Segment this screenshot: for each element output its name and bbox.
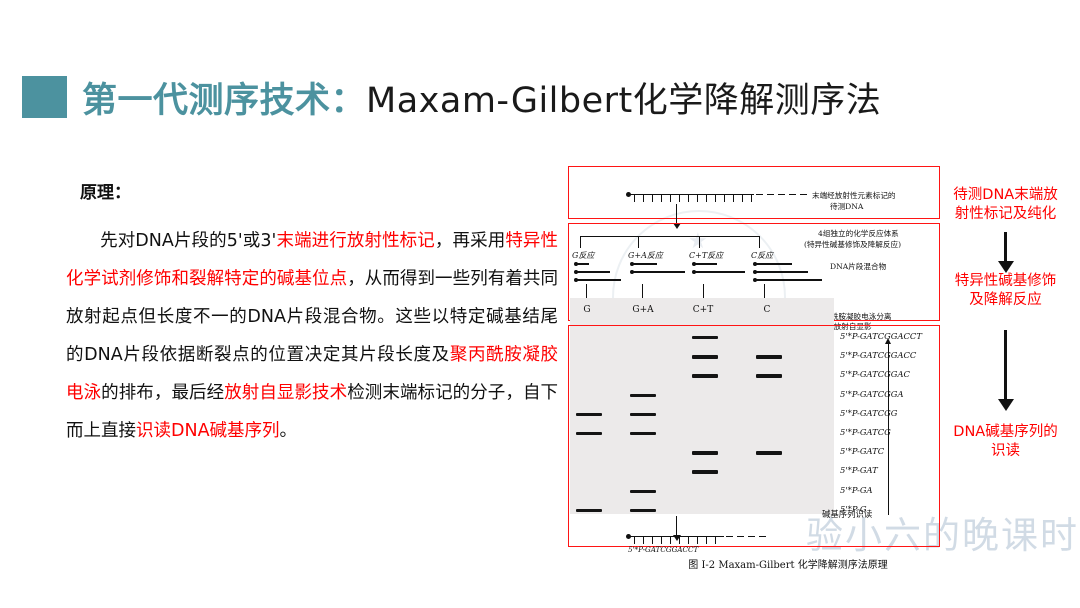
reaction-label-c: C反应	[751, 250, 773, 261]
gel-band	[630, 490, 656, 493]
gel-band	[630, 432, 656, 435]
gel-band	[692, 336, 718, 339]
annotation-2-line1: 特异性碱基修饰	[938, 272, 1073, 291]
title-accent-bar	[22, 76, 67, 118]
sequence-row-label: 5'*P-GATC	[840, 446, 884, 456]
annotation-1-line1: 待测DNA末端放	[938, 186, 1073, 205]
gel-band	[756, 374, 782, 377]
gel-band	[756, 355, 782, 358]
paragraph-run-10: 。	[280, 421, 298, 441]
gel-band	[630, 394, 656, 397]
gel-band	[692, 451, 718, 454]
panel1-note-line1: 末端经放射性元素标记的	[812, 190, 896, 201]
page-title-cn: 第一代测序技术：	[82, 81, 366, 121]
gel-band	[630, 413, 656, 416]
paragraph-run-1: 末端进行放射性标记	[276, 231, 435, 251]
lane-label-g: G	[576, 305, 598, 315]
sequence-row-label: 5'*P-GATCGGA	[840, 389, 904, 399]
lane-label-c: C	[756, 305, 778, 315]
product-sequence-label: 5'*P-GATCGGACCT	[628, 545, 698, 554]
gel-band	[692, 374, 718, 377]
sequence-row-label: 5'*P-GATCG	[840, 427, 891, 437]
principle-paragraph: 先对DNA片段的5'或3'末端进行放射性标记，再采用特异性化学试剂修饰和裂解特定…	[66, 222, 558, 450]
sequence-row-label: 5'*P-GATCGGACCT	[840, 331, 922, 341]
sequence-row-label: 5'*P-GAT	[840, 465, 878, 475]
panel2-note-line2: (特异性碱基修饰及降解反应)	[804, 239, 901, 250]
annotation-2: 特异性碱基修饰 及降解反应	[938, 272, 1073, 310]
lane-label-ga: G+A	[630, 305, 656, 315]
paragraph-run-2: ，再采用	[435, 231, 505, 251]
figure-caption: 图 I-2 Maxam-Gilbert 化学降解测序法原理	[638, 556, 938, 571]
page-title: 第一代测序技术：Maxam-Gilbert化学降解测序法	[82, 72, 881, 123]
annotation-1: 待测DNA末端放 射性标记及纯化	[938, 186, 1073, 224]
reaction-label-ct: C+T反应	[689, 250, 723, 261]
figure-maxam-gilbert: 末端经放射性元素标记的 待测DNA 4组独立的化学反应体系 (特异性碱基修饰及降…	[568, 166, 940, 562]
page-title-en: Maxam-Gilbert化学降解测序法	[366, 81, 881, 121]
arrow-panel1-to-panel2	[676, 204, 677, 224]
annotation-arrow-2	[1004, 330, 1007, 400]
panel2-note-line3: DNA片段混合物	[830, 261, 886, 272]
paragraph-run-9: 识读DNA碱基序列	[136, 421, 280, 441]
gel-band	[692, 470, 718, 473]
annotation-3-line1: DNA碱基序列的	[938, 423, 1073, 442]
gel-band	[756, 451, 782, 454]
reaction-label-g: G反应	[572, 250, 594, 261]
paragraph-run-0: 先对DNA片段的5'或3'	[100, 231, 276, 251]
paragraph-run-7: 放射自显影技术	[224, 383, 347, 403]
panel2-note-line1: 4组独立的化学反应体系	[818, 228, 899, 239]
arrow-gel-to-product	[676, 516, 677, 536]
paragraph-run-6: 的排布，最后经	[101, 383, 224, 403]
gel-band	[692, 355, 718, 358]
arrow-read-direction	[888, 343, 889, 515]
sequence-row-label: 5'*P-GA	[840, 485, 873, 495]
section-label: 原理：	[80, 178, 131, 203]
gel-band	[630, 509, 656, 512]
annotation-1-line2: 射性标记及纯化	[938, 205, 1073, 224]
annotation-3: DNA碱基序列的 识读	[938, 423, 1073, 461]
lane-label-ct: C+T	[690, 305, 716, 315]
readout-note: 碱基序列识读	[822, 509, 872, 520]
slide-root: ★ 验小六的晚课时间 第一代测序技术：Maxam-Gilbert化学降解测序法 …	[0, 0, 1080, 608]
gel-band	[576, 413, 602, 416]
reaction-bracket	[580, 236, 760, 237]
sequence-row-label: 5'*P-GATCGGACC	[840, 350, 916, 360]
gel-band	[576, 509, 602, 512]
annotation-2-line2: 及降解反应	[938, 291, 1073, 310]
reaction-label-ga: G+A反应	[628, 250, 663, 261]
annotation-3-line2: 识读	[938, 442, 1073, 461]
panel1-note-line2: 待测DNA	[830, 201, 863, 212]
sequence-row-label: 5'*P-GATCGGAC	[840, 369, 910, 379]
gel-band	[576, 432, 602, 435]
annotation-arrow-1	[1004, 232, 1007, 262]
